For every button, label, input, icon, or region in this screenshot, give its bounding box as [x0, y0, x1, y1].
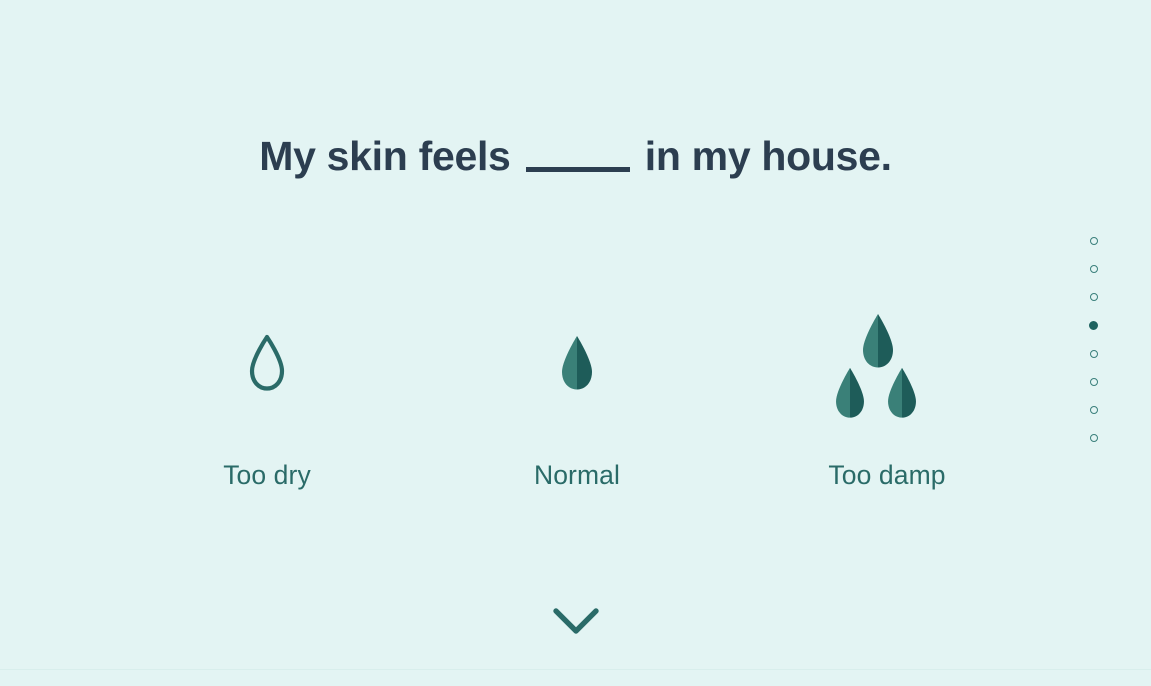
chevron-down-icon [552, 606, 600, 641]
pagination-dot-2[interactable] [1090, 265, 1098, 273]
options-row: Too dry Normal [112, 290, 1042, 489]
pagination-dot-3[interactable] [1090, 293, 1098, 301]
droplet-triple-filled-icon [827, 300, 947, 430]
option-too-dry-label: Too dry [223, 462, 311, 489]
pagination-dot-6[interactable] [1090, 378, 1098, 386]
droplet-filled-icon-bottom-left [831, 366, 869, 425]
option-too-dry[interactable]: Too dry [112, 290, 422, 489]
option-too-dry-art [187, 290, 347, 440]
question-prefix: My skin feels [259, 133, 521, 179]
question-suffix: in my house. [634, 133, 892, 179]
option-too-damp-label: Too damp [828, 462, 945, 489]
pagination-dot-8[interactable] [1090, 434, 1098, 442]
question-block: My skin feels in my house. [0, 132, 1151, 180]
pagination-dot-7[interactable] [1090, 406, 1098, 414]
option-normal[interactable]: Normal [422, 290, 732, 489]
pagination-dots [1089, 237, 1098, 442]
pagination-dot-4[interactable] [1089, 321, 1098, 330]
droplet-filled-icon [557, 334, 597, 397]
option-normal-label: Normal [534, 462, 620, 489]
option-too-damp-art [807, 290, 967, 440]
question-blank [526, 167, 630, 172]
bottom-divider [0, 669, 1151, 670]
pagination-dot-5[interactable] [1090, 350, 1098, 358]
option-too-damp[interactable]: Too damp [732, 290, 1042, 489]
survey-screen: My skin feels in my house. Too dry [0, 0, 1151, 686]
droplet-filled-icon-bottom-right [883, 366, 921, 425]
page-title: My skin feels in my house. [0, 132, 1151, 180]
scroll-down-button[interactable] [0, 606, 1151, 641]
droplet-outline-icon [246, 333, 288, 398]
option-normal-art [497, 290, 657, 440]
pagination-dot-1[interactable] [1090, 237, 1098, 245]
